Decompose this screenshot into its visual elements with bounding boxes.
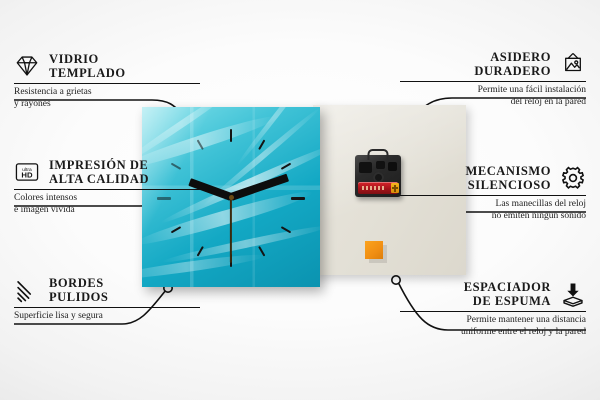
feature-edges-header: BORDESPULIDOS — [14, 276, 200, 304]
feature-mechanism-title: MECANISMOSILENCIOSO — [465, 164, 551, 192]
feature-print-rule — [14, 189, 200, 190]
battery — [358, 182, 398, 194]
feature-glass-description: Resistencia a grietasy rayones — [14, 87, 200, 110]
hour-tick — [291, 197, 305, 200]
battery-positive-terminal — [391, 183, 399, 193]
feature-glass-header: VIDRIOTEMPLADO — [14, 52, 200, 80]
foam-spacer-icon — [560, 281, 586, 307]
feature-print-header: ultra HD IMPRESIÓN DEALTA CALIDAD — [14, 158, 200, 186]
foam-spacer — [365, 241, 383, 259]
feature-spacer: ESPACIADORDE ESPUMA Permite mantener una… — [400, 280, 586, 338]
feature-spacer-description: Permite mantener una distanciauniforme e… — [400, 315, 586, 338]
feature-hanger-header: ASIDERODURADERO — [400, 50, 586, 78]
feature-spacer-header: ESPACIADORDE ESPUMA — [400, 280, 586, 308]
feature-glass-rule — [14, 83, 200, 84]
movement-hanger-tab — [368, 149, 389, 160]
feature-print-title: IMPRESIÓN DEALTA CALIDAD — [49, 158, 149, 186]
ultra-hd-icon: ultra HD — [14, 159, 40, 185]
feature-mechanism-description: Las manecillas del relojno emiten ningún… — [400, 199, 586, 222]
feature-print-description: Colores intensose imagen vívida — [14, 193, 200, 216]
hour-tick — [230, 129, 232, 142]
feature-print: ultra HD IMPRESIÓN DEALTA CALIDAD Colore… — [14, 158, 200, 216]
feature-spacer-rule — [400, 311, 586, 312]
feature-edges-rule — [14, 307, 200, 308]
movement-slot-a — [359, 162, 372, 173]
svg-text:HD: HD — [21, 171, 33, 180]
feature-mechanism-header: MECANISMOSILENCIOSO — [400, 164, 586, 192]
movement-slot-b — [376, 161, 385, 169]
clock-pivot — [229, 195, 234, 200]
second-hand — [230, 197, 232, 263]
feature-hanger-title: ASIDERODURADERO — [474, 50, 551, 78]
polished-edges-icon — [14, 277, 40, 303]
feature-edges-description: Superficie lisa y segura — [14, 311, 200, 323]
movement-slot-c — [388, 162, 397, 171]
battery-label — [362, 186, 386, 190]
infographic-canvas: VIDRIOTEMPLADO Resistencia a grietasy ra… — [0, 0, 600, 400]
feature-glass-title: VIDRIOTEMPLADO — [49, 52, 126, 80]
feature-mechanism: MECANISMOSILENCIOSO Las manecillas del r… — [400, 164, 586, 222]
clock-movement — [355, 155, 401, 197]
feature-edges: BORDESPULIDOS Superficie lisa y segura — [14, 276, 200, 323]
feature-hanger-description: Permite una fácil instalacióndel reloj e… — [400, 85, 586, 108]
feature-mechanism-rule — [400, 195, 586, 196]
feature-edges-title: BORDESPULIDOS — [49, 276, 108, 304]
feature-hanger-rule — [400, 81, 586, 82]
feature-glass: VIDRIOTEMPLADO Resistencia a grietasy ra… — [14, 52, 200, 110]
gear-icon — [560, 165, 586, 191]
wall-frame-icon — [560, 51, 586, 77]
feature-hanger: ASIDERODURADERO Permite una fácil instal… — [400, 50, 586, 108]
feature-spacer-title: ESPACIADORDE ESPUMA — [464, 280, 551, 308]
diamond-icon — [14, 53, 40, 79]
